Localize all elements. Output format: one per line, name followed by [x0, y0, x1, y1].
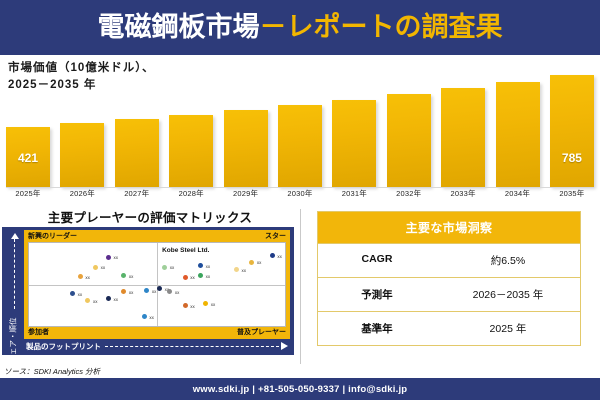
matrix-data-point	[157, 286, 162, 291]
page-title: 電磁鋼板市場－レポートの調査果	[98, 14, 503, 41]
matrix-data-point	[93, 265, 98, 270]
chart-bars-container: 421785	[6, 57, 594, 187]
matrix-data-point-label: xx	[241, 268, 246, 273]
insights-table-row: 予測年2026－2035 年	[318, 277, 580, 311]
quadrant-label-participants: 参加者	[28, 328, 49, 337]
key-insights-table: 主要な市場洞察 CAGR約6.5%予測年2026－2035 年基準年2025 年	[317, 211, 581, 346]
chart-bar-value-label: 421	[6, 151, 50, 165]
matrix-data-point-label: xx	[93, 299, 98, 304]
matrix-data-point	[106, 255, 111, 260]
matrix-data-point-label: xx	[129, 274, 134, 279]
matrix-data-point	[198, 263, 203, 268]
matrix-data-point-label: xx	[149, 315, 154, 320]
matrix-data-point	[167, 289, 172, 294]
matrix-data-point	[121, 273, 126, 278]
page-title-dash: －	[260, 12, 287, 42]
quadrant-label-pervasive-players: 普及プレーヤー	[237, 328, 286, 337]
chart-x-label: 2032年	[387, 188, 431, 202]
matrix-y-axis-dashed-line	[14, 239, 15, 309]
chart-bar-value-label: 785	[550, 151, 594, 165]
chart-bar-column	[115, 57, 159, 187]
chart-bar	[441, 88, 485, 187]
chart-x-label: 2034年	[496, 188, 540, 202]
quadrant-label-stars: スター	[265, 232, 286, 241]
chart-x-label: 2033年	[441, 188, 485, 202]
matrix-data-point	[78, 274, 83, 279]
matrix-data-point	[198, 273, 203, 278]
matrix-data-point-label: xx	[190, 304, 195, 309]
matrix-y-axis: 市場シェア・順位	[2, 227, 24, 355]
matrix-body: 新興のリーダー スター Kobe Steel Ltd. xxxxxxxxxxxx…	[24, 227, 294, 355]
chart-bar	[387, 94, 431, 187]
chart-bar	[278, 105, 322, 187]
chart-bar-column: 421	[6, 57, 50, 187]
chart-x-label: 2025年	[6, 188, 50, 202]
matrix-data-point-label: xx	[170, 265, 175, 270]
matrix-data-point	[162, 265, 167, 270]
insights-row-key: CAGR	[318, 244, 436, 277]
insights-row-value: 2026－2035 年	[436, 278, 580, 311]
matrix-x-axis: 製品のフットプリント	[24, 339, 290, 353]
matrix-data-point	[144, 288, 149, 293]
chart-bar-column	[441, 57, 485, 187]
matrix-horizontal-divider	[29, 285, 285, 286]
matrix-data-point-label: xx	[211, 302, 216, 307]
page-title-primary: 電磁鋼板市場	[98, 12, 260, 42]
chart-bar-column	[496, 57, 540, 187]
chart-x-label: 2035年	[550, 188, 594, 202]
chart-bar	[169, 115, 213, 187]
lower-section: 主要プレーヤーの評価マトリックス 市場シェア・順位 新興のリーダー スター Ko…	[0, 203, 600, 378]
chart-x-label: 2028年	[169, 188, 213, 202]
insights-table-header: 主要な市場洞察	[318, 212, 580, 243]
matrix-top-quadrant-labels: 新興のリーダー スター	[28, 232, 286, 241]
chart-bar	[224, 110, 268, 187]
market-value-bar-chart: 市場価値（10億米ドル）、 2025－2035 年 421785 2025年20…	[0, 55, 600, 203]
chart-bar: 421	[6, 127, 50, 187]
chart-bar-column	[169, 57, 213, 187]
chart-x-label: 2031年	[332, 188, 376, 202]
matrix-data-point-label: xx	[152, 289, 157, 294]
matrix-data-point-label: xx	[85, 275, 90, 280]
matrix-data-point	[249, 260, 254, 265]
matrix-scatter-plot: Kobe Steel Ltd. xxxxxxxxxxxxxxxxxxxxxxxx…	[28, 242, 286, 327]
insights-row-key: 基準年	[318, 312, 436, 345]
matrix-data-point	[106, 296, 111, 301]
evaluation-matrix: 市場シェア・順位 新興のリーダー スター Kobe Steel Ltd. xxx…	[2, 227, 294, 355]
page-title-secondary: レポートの調査果	[287, 12, 503, 42]
insights-table-row: 基準年2025 年	[318, 311, 580, 345]
chart-bar: 785	[550, 75, 594, 187]
matrix-gold-frame: 新興のリーダー スター Kobe Steel Ltd. xxxxxxxxxxxx…	[24, 230, 290, 339]
matrix-bottom-quadrant-labels: 参加者 普及プレーヤー	[28, 328, 286, 337]
matrix-data-point-label: xx	[113, 297, 118, 302]
matrix-data-point-label: xx	[206, 274, 211, 279]
matrix-data-point	[234, 267, 239, 272]
matrix-pane: 主要プレーヤーの評価マトリックス 市場シェア・順位 新興のリーダー スター Ko…	[0, 203, 300, 378]
matrix-data-point-label: xx	[277, 254, 282, 259]
insights-table-body: CAGR約6.5%予測年2026－2035 年基準年2025 年	[318, 243, 580, 345]
matrix-data-point	[183, 275, 188, 280]
matrix-data-point-label: xx	[129, 290, 134, 295]
matrix-x-axis-label: 製品のフットプリント	[26, 341, 101, 352]
matrix-data-point-label: xx	[190, 275, 195, 280]
insights-pane: 主要な市場洞察 CAGR約6.5%予測年2026－2035 年基準年2025 年	[301, 203, 600, 378]
chart-bar	[496, 82, 540, 187]
matrix-x-axis-dashed-line	[105, 346, 279, 347]
matrix-data-point-label: xx	[206, 264, 211, 269]
matrix-data-point-label: xx	[78, 292, 83, 297]
matrix-company-label: Kobe Steel Ltd.	[162, 247, 209, 254]
matrix-data-point	[85, 298, 90, 303]
chart-x-label: 2026年	[60, 188, 104, 202]
insights-row-value: 2025 年	[436, 312, 580, 345]
chart-bar-column	[278, 57, 322, 187]
matrix-data-point-label: xx	[101, 265, 106, 270]
insights-row-value: 約6.5%	[436, 244, 580, 277]
page-header: 電磁鋼板市場－レポートの調査果	[0, 0, 600, 55]
matrix-data-point-label: xx	[113, 255, 118, 260]
page-footer: www.sdki.jp | +81-505-050-9337 | info@sd…	[0, 378, 600, 400]
matrix-data-point-label: xx	[257, 260, 262, 265]
chart-bar-column	[332, 57, 376, 187]
chart-bar-column	[224, 57, 268, 187]
matrix-data-point	[203, 301, 208, 306]
insights-row-key: 予測年	[318, 278, 436, 311]
chart-bar-column	[60, 57, 104, 187]
chart-bar	[60, 123, 104, 187]
matrix-data-point	[183, 303, 188, 308]
chart-bar-column: 785	[550, 57, 594, 187]
insights-table-row: CAGR約6.5%	[318, 243, 580, 277]
chart-bar	[332, 100, 376, 187]
matrix-data-point	[270, 253, 275, 258]
matrix-data-point	[121, 289, 126, 294]
source-note: ソース：SDKI Analytics 分析	[4, 366, 100, 377]
chart-x-axis-labels: 2025年2026年2027年2028年2029年2030年2031年2032年…	[6, 188, 594, 202]
chart-bar	[115, 119, 159, 187]
arrow-right-icon	[281, 342, 288, 350]
arrow-up-icon	[11, 233, 19, 239]
footer-contact-text: www.sdki.jp | +81-505-050-9337 | info@sd…	[193, 384, 408, 395]
matrix-data-point	[70, 291, 75, 296]
matrix-data-point	[142, 314, 147, 319]
matrix-title: 主要プレーヤーの評価マトリックス	[0, 203, 300, 229]
chart-x-label: 2030年	[278, 188, 322, 202]
chart-x-label: 2027年	[115, 188, 159, 202]
chart-x-label: 2029年	[224, 188, 268, 202]
matrix-data-point-label: xx	[175, 290, 180, 295]
quadrant-label-emerging-leaders: 新興のリーダー	[28, 232, 77, 241]
chart-bar-column	[387, 57, 431, 187]
